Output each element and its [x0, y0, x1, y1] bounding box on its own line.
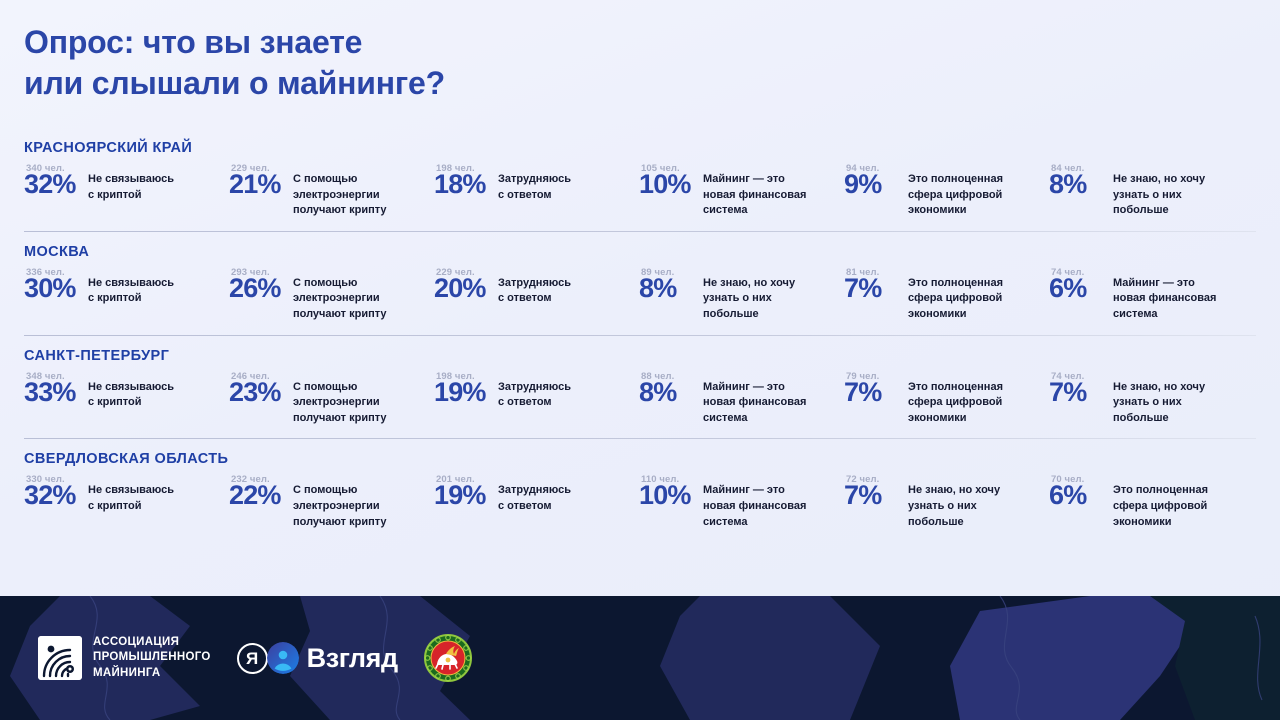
stat-cell: 229 чел.21%С помощью электроэнергии полу…: [229, 163, 434, 219]
percentage-value: 18%: [434, 171, 496, 198]
stat-cell: 198 чел.18%Затрудняюсь с ответом: [434, 163, 639, 203]
stat-cell: 246 чел.23%С помощью электроэнергии полу…: [229, 371, 434, 427]
stat-line: 7%Не знаю, но хочу узнать о них побольше: [844, 482, 1041, 530]
percentage-value: 8%: [1049, 171, 1111, 198]
region-rows: КРАСНОЯРСКИЙ КРАЙ340 чел.32%Не связываюс…: [0, 128, 1280, 542]
percentage-value: 19%: [434, 379, 496, 406]
stat-cell: 232 чел.22%С помощью электроэнергии полу…: [229, 474, 434, 530]
answer-label: Не знаю, но хочу узнать о них побольше: [906, 482, 1000, 530]
stat-line: 22%С помощью электроэнергии получают кри…: [229, 482, 426, 530]
percentage-value: 7%: [844, 275, 906, 302]
answer-label: Не связываюсь с криптой: [86, 171, 174, 203]
percentage-value: 20%: [434, 275, 496, 302]
stat-line: 20%Затрудняюсь с ответом: [434, 275, 631, 307]
stat-line: 33%Не связываюсь с криптой: [24, 379, 221, 411]
stat-line: 7%Это полноценная сфера цифровой экономи…: [844, 379, 1041, 427]
percentage-value: 8%: [639, 379, 701, 406]
answer-label: Затрудняюсь с ответом: [496, 171, 571, 203]
percentage-value: 9%: [844, 171, 906, 198]
stat-line: 8%Не знаю, но хочу узнать о них побольше: [639, 275, 836, 323]
region-name: КРАСНОЯРСКИЙ КРАЙ: [24, 140, 1256, 156]
percentage-value: 7%: [844, 379, 906, 406]
region-cells: 336 чел.30%Не связываюсь с криптой293 че…: [24, 267, 1256, 323]
percentage-value: 7%: [1049, 379, 1111, 406]
stat-line: 7%Не знаю, но хочу узнать о них побольше: [1049, 379, 1246, 427]
stat-cell: 110 чел.10%Майнинг — это новая финансова…: [639, 474, 844, 530]
stat-cell: 340 чел.32%Не связываюсь с криптой: [24, 163, 229, 203]
region-row: КРАСНОЯРСКИЙ КРАЙ340 чел.32%Не связываюс…: [0, 128, 1280, 231]
region-name: СВЕРДЛОВСКАЯ ОБЛАСТЬ: [24, 451, 1256, 467]
answer-label: Затрудняюсь с ответом: [496, 379, 571, 411]
answer-label: Это полноценная сфера цифровой экономики: [906, 275, 1003, 323]
region-cells: 330 чел.32%Не связываюсь с криптой232 че…: [24, 474, 1256, 530]
vzglyad-logo: Я Взгляд: [237, 642, 398, 674]
stat-cell: 105 чел.10%Майнинг — это новая финансова…: [639, 163, 844, 219]
answer-label: Затрудняюсь с ответом: [496, 482, 571, 514]
stat-cell: 89 чел.8%Не знаю, но хочу узнать о них п…: [639, 267, 844, 323]
answer-label: Майнинг — это новая финансовая система: [1111, 275, 1216, 323]
stat-cell: 74 чел.6%Майнинг — это новая финансовая …: [1049, 267, 1254, 323]
region-cells: 348 чел.33%Не связываюсь с криптой246 че…: [24, 371, 1256, 427]
stat-cell: 79 чел.7%Это полноценная сфера цифровой …: [844, 371, 1049, 427]
stat-cell: 348 чел.33%Не связываюсь с криптой: [24, 371, 229, 411]
region-name: САНКТ-ПЕТЕРБУРГ: [24, 348, 1256, 364]
answer-label: Это полноценная сфера цифровой экономики: [906, 379, 1003, 427]
stat-line: 10%Майнинг — это новая финансовая систем…: [639, 482, 836, 530]
percentage-value: 30%: [24, 275, 86, 302]
tatarstan-coat-of-arms-icon: [424, 634, 472, 682]
percentage-value: 8%: [639, 275, 701, 302]
infographic-page: Опрос: что вы знаете или слышали о майни…: [0, 0, 1280, 720]
stat-line: 9%Это полноценная сфера цифровой экономи…: [844, 171, 1041, 219]
stat-cell: 94 чел.9%Это полноценная сфера цифровой …: [844, 163, 1049, 219]
user-avatar-icon: [267, 642, 299, 674]
percentage-value: 33%: [24, 379, 86, 406]
answer-label: Майнинг — это новая финансовая система: [701, 171, 806, 219]
answer-label: С помощью электроэнергии получают крипту: [291, 379, 387, 427]
fingerprint-mark-icon: [38, 636, 82, 680]
stat-cell: 229 чел.20%Затрудняюсь с ответом: [434, 267, 639, 307]
association-name: АССОЦИАЦИЯ ПРОМЫШЛЕННОГО МАЙНИНГА: [93, 635, 211, 681]
answer-label: Это полноценная сфера цифровой экономики: [906, 171, 1003, 219]
answer-label: Не связываюсь с криптой: [86, 275, 174, 307]
region-row: МОСКВА336 чел.30%Не связываюсь с криптой…: [0, 232, 1280, 335]
footer: АССОЦИАЦИЯ ПРОМЫШЛЕННОГО МАЙНИНГА Я: [0, 596, 1280, 720]
header: Опрос: что вы знаете или слышали о майни…: [0, 0, 1280, 104]
region-name: МОСКВА: [24, 244, 1256, 260]
stat-cell: 336 чел.30%Не связываюсь с криптой: [24, 267, 229, 307]
stat-cell: 293 чел.26%С помощью электроэнергии полу…: [229, 267, 434, 323]
stat-line: 32%Не связываюсь с криптой: [24, 482, 221, 514]
stat-line: 18%Затрудняюсь с ответом: [434, 171, 631, 203]
percentage-value: 26%: [229, 275, 291, 302]
answer-label: Не связываюсь с криптой: [86, 482, 174, 514]
answer-label: Не знаю, но хочу узнать о них побольше: [1111, 379, 1205, 427]
stat-line: 21%С помощью электроэнергии получают кри…: [229, 171, 426, 219]
percentage-value: 32%: [24, 482, 86, 509]
percentage-value: 21%: [229, 171, 291, 198]
percentage-value: 19%: [434, 482, 496, 509]
percentage-value: 6%: [1049, 275, 1111, 302]
percentage-value: 22%: [229, 482, 291, 509]
answer-label: С помощью электроэнергии получают крипту: [291, 275, 387, 323]
stat-cell: 81 чел.7%Это полноценная сфера цифровой …: [844, 267, 1049, 323]
stat-cell: 74 чел.7%Не знаю, но хочу узнать о них п…: [1049, 371, 1254, 427]
region-row: САНКТ-ПЕТЕРБУРГ348 чел.33%Не связываюсь …: [0, 336, 1280, 439]
stat-cell: 201 чел.19%Затрудняюсь с ответом: [434, 474, 639, 514]
percentage-value: 10%: [639, 171, 701, 198]
percentage-value: 6%: [1049, 482, 1111, 509]
association-logo: АССОЦИАЦИЯ ПРОМЫШЛЕННОГО МАЙНИНГА: [38, 635, 211, 681]
stat-line: 32%Не связываюсь с криптой: [24, 171, 221, 203]
stat-line: 10%Майнинг — это новая финансовая систем…: [639, 171, 836, 219]
stat-line: 19%Затрудняюсь с ответом: [434, 482, 631, 514]
page-title: Опрос: что вы знаете или слышали о майни…: [24, 22, 1280, 104]
stat-line: 7%Это полноценная сфера цифровой экономи…: [844, 275, 1041, 323]
footer-logos: АССОЦИАЦИЯ ПРОМЫШЛЕННОГО МАЙНИНГА Я: [0, 596, 1280, 720]
answer-label: Не знаю, но хочу узнать о них побольше: [1111, 171, 1205, 219]
stat-cell: 84 чел.8%Не знаю, но хочу узнать о них п…: [1049, 163, 1254, 219]
stat-line: 23%С помощью электроэнергии получают кри…: [229, 379, 426, 427]
answer-label: Майнинг — это новая финансовая система: [701, 379, 806, 427]
answer-label: Не связываюсь с криптой: [86, 379, 174, 411]
stat-line: 19%Затрудняюсь с ответом: [434, 379, 631, 411]
stat-line: 30%Не связываюсь с криптой: [24, 275, 221, 307]
answer-label: Не знаю, но хочу узнать о них побольше: [701, 275, 795, 323]
stat-line: 6%Это полноценная сфера цифровой экономи…: [1049, 482, 1246, 530]
region-cells: 340 чел.32%Не связываюсь с криптой229 че…: [24, 163, 1256, 219]
stat-cell: 88 чел.8%Майнинг — это новая финансовая …: [639, 371, 844, 427]
stat-cell: 70 чел.6%Это полноценная сфера цифровой …: [1049, 474, 1254, 530]
stat-cell: 72 чел.7%Не знаю, но хочу узнать о них п…: [844, 474, 1049, 530]
yandex-letter-icon: Я: [237, 643, 268, 674]
stat-line: 6%Майнинг — это новая финансовая система: [1049, 275, 1246, 323]
percentage-value: 7%: [844, 482, 906, 509]
answer-label: С помощью электроэнергии получают крипту: [291, 482, 387, 530]
answer-label: С помощью электроэнергии получают крипту: [291, 171, 387, 219]
answer-label: Затрудняюсь с ответом: [496, 275, 571, 307]
stat-line: 26%С помощью электроэнергии получают кри…: [229, 275, 426, 323]
vzglyad-wordmark: Взгляд: [307, 643, 398, 674]
percentage-value: 32%: [24, 171, 86, 198]
stat-cell: 198 чел.19%Затрудняюсь с ответом: [434, 371, 639, 411]
stat-line: 8%Майнинг — это новая финансовая система: [639, 379, 836, 427]
stat-cell: 330 чел.32%Не связываюсь с криптой: [24, 474, 229, 514]
region-row: СВЕРДЛОВСКАЯ ОБЛАСТЬ330 чел.32%Не связыв…: [0, 439, 1280, 542]
answer-label: Майнинг — это новая финансовая система: [701, 482, 806, 530]
percentage-value: 23%: [229, 379, 291, 406]
percentage-value: 10%: [639, 482, 701, 509]
stat-line: 8%Не знаю, но хочу узнать о них побольше: [1049, 171, 1246, 219]
answer-label: Это полноценная сфера цифровой экономики: [1111, 482, 1208, 530]
